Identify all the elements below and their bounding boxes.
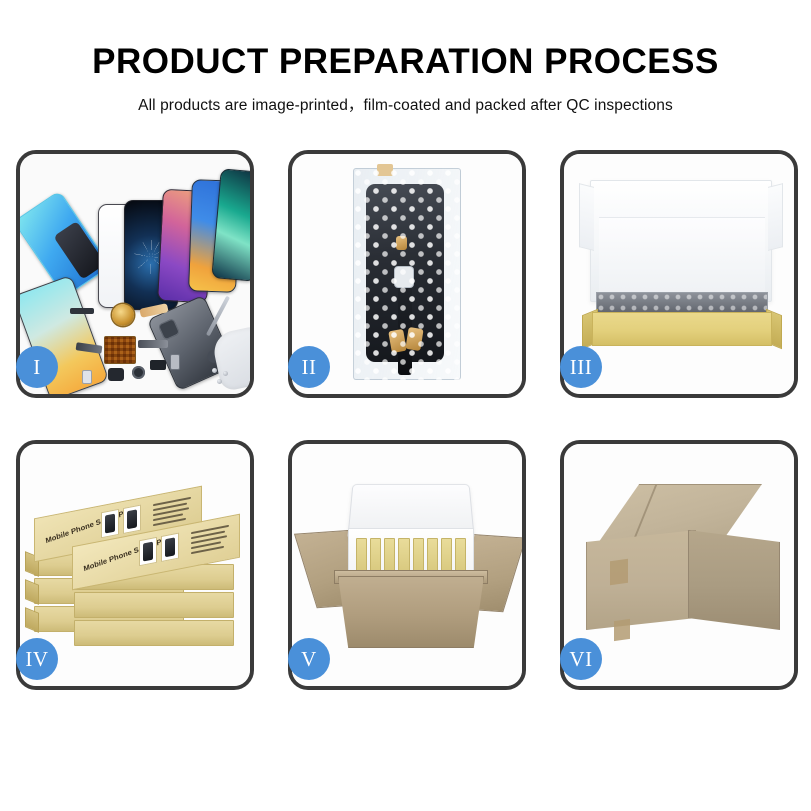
bubble-texture (353, 168, 461, 380)
copper-coil-part (112, 304, 134, 326)
carton-tape-lower (614, 619, 630, 641)
step-panel-2: II (288, 150, 526, 398)
step-numeral-5: V (301, 649, 317, 670)
carton-body (338, 576, 484, 648)
step-badge-2: II (288, 346, 330, 388)
shipping-carton-open (310, 474, 510, 660)
white-box-lid (590, 180, 772, 302)
stacked-box-edge (74, 592, 234, 618)
chip-grid-part (104, 336, 136, 364)
process-steps-grid: I II (16, 150, 795, 750)
step-panel-3: III (560, 150, 798, 398)
sim-tray-part (82, 370, 92, 384)
product-preparation-infographic: PRODUCT PREPARATION PROCESS All products… (0, 0, 811, 811)
battery-part (170, 354, 180, 370)
sealed-carton (586, 484, 780, 642)
yellow-box-tray (586, 292, 778, 346)
box-art-screen-2 (123, 505, 141, 534)
box-art-screen-2 (161, 533, 179, 562)
box-stack: Mobile Phone Spare Parts Mobile Phone Sp… (34, 478, 240, 654)
step-numeral-3: III (570, 357, 592, 378)
step-badge-6: VI (560, 638, 602, 680)
carton-tape-upper (610, 559, 628, 586)
box-art-screen-1 (101, 509, 119, 538)
header: PRODUCT PREPARATION PROCESS All products… (0, 0, 811, 115)
stacked-box-edge (74, 620, 234, 646)
step-panel-1: I (16, 150, 254, 398)
step-panel-5: V (288, 440, 526, 690)
box-side (25, 607, 39, 633)
tray-front-face (592, 312, 772, 346)
page-subtitle: All products are image-printed，film-coat… (0, 93, 811, 115)
step-numeral-1: I (33, 357, 41, 378)
lid-face (599, 217, 765, 299)
box-side (25, 579, 39, 605)
step-numeral-2: II (302, 357, 317, 378)
speaker-part (108, 368, 124, 381)
step-panel-6: VI (560, 440, 798, 690)
bubble-wrap-bag (353, 168, 461, 380)
ic-chip-part (150, 360, 166, 370)
step-badge-4: IV (16, 638, 58, 680)
step-numeral-6: VI (569, 649, 592, 670)
page-title: PRODUCT PREPARATION PROCESS (0, 44, 811, 81)
step-badge-5: V (288, 638, 330, 680)
step-numeral-4: IV (25, 649, 48, 670)
screws-group (212, 368, 234, 386)
box-art-screen-1 (139, 537, 157, 566)
carton-left-face (586, 530, 696, 630)
flex-cable-dark (138, 340, 168, 348)
camera-module-part (132, 366, 145, 379)
step-panel-4: Mobile Phone Spare Parts Mobile Phone Sp… (16, 440, 254, 690)
step-badge-1: I (16, 346, 58, 388)
box-spec-lines (191, 524, 231, 557)
carton-right-face (688, 530, 780, 630)
earpiece-part (70, 308, 94, 314)
step-badge-3: III (560, 346, 602, 388)
